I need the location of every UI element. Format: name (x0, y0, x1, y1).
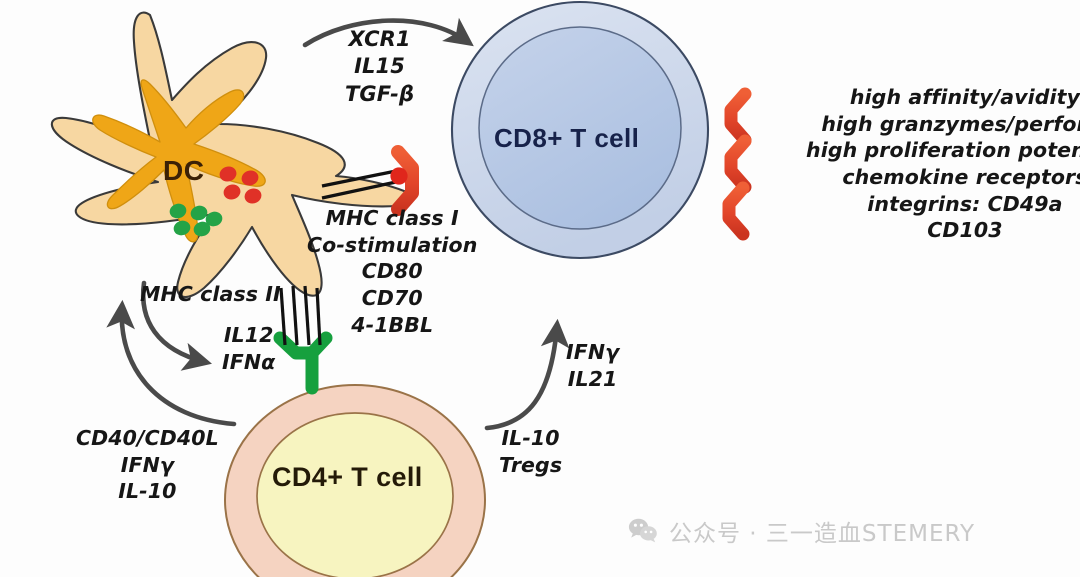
dc-to-cd4-cytokines: IL12 IFNα (222, 322, 275, 375)
label-cd103: CD103 (806, 217, 1080, 244)
label-costimulation: Co-stimulation (307, 232, 477, 259)
dc-label: DC (163, 155, 204, 187)
label-il12: IL12 (222, 322, 275, 349)
mhc-class-i-costim: MHC class I Co-stimulation CD80 CD70 4-1… (307, 205, 477, 338)
label-ifng-cd8: IFNγ (566, 339, 619, 366)
label-chemokine-receptors: chemokine receptors (806, 164, 1080, 191)
label-high-granzymes: high granzymes/perforin (806, 111, 1080, 138)
mhc-class-ii-label: MHC class II (140, 281, 281, 308)
cd4-cell-label: CD4+ T cell (272, 462, 423, 493)
label-mhc-class-ii: MHC class II (140, 281, 281, 308)
label-mhc-class-i: MHC class I (307, 205, 477, 232)
cd8-receptors-right (684, 94, 745, 234)
watermark-text: 公众号 · 三一造血STEMERY (669, 514, 975, 548)
label-cd80: CD80 (307, 258, 477, 285)
label-il15: IL15 (345, 53, 414, 80)
cd8-cell-label: CD8+ T cell (494, 123, 639, 154)
label-integrins-cd49a: integrins: CD49a (806, 191, 1080, 218)
cd4-to-dc-signals: CD40/CD40L IFNγ IL-10 (76, 425, 219, 505)
label-il10-treg: IL-10 (499, 425, 562, 452)
cd4-to-cd8-cytokines: IFNγ IL21 (566, 339, 619, 392)
label-tgfb: TGF-β (345, 81, 414, 108)
label-cd70: CD70 (307, 285, 477, 312)
dc-to-cd8-factors: XCR1 IL15 TGF-β (345, 26, 414, 108)
peptide-dot (390, 167, 407, 184)
label-il10-dc: IL-10 (76, 478, 219, 505)
cd4-suppressive-factors: IL-10 Tregs (499, 425, 562, 478)
arrow-cd4-to-dc (122, 307, 234, 424)
label-xcr1: XCR1 (345, 26, 414, 53)
label-ifng-dc: IFNγ (76, 452, 219, 479)
cd4-nucleus (257, 413, 453, 577)
diagram-canvas: XCR1 IL15 TGF-β MHC class I Co-stimulati… (0, 0, 1080, 577)
label-il21: IL21 (566, 366, 619, 393)
label-cd40-cd40l: CD40/CD40L (76, 425, 219, 452)
label-high-affinity: high affinity/avidity (806, 84, 1080, 111)
label-tregs: Tregs (499, 452, 562, 479)
arrow-cd4-to-cd8 (487, 326, 557, 428)
receptor-y-3 (684, 188, 743, 234)
watermark: 公众号 · 三一造血STEMERY (628, 514, 975, 548)
cd8-effector-properties: high affinity/avidity high granzymes/per… (806, 84, 1080, 244)
cd4-tcr-receptor (280, 338, 326, 388)
label-ifna: IFNα (222, 349, 275, 376)
label-high-proliferation: high proliferation potential (806, 137, 1080, 164)
label-4-1bbl: 4-1BBL (307, 312, 477, 339)
wechat-icon (628, 518, 658, 544)
